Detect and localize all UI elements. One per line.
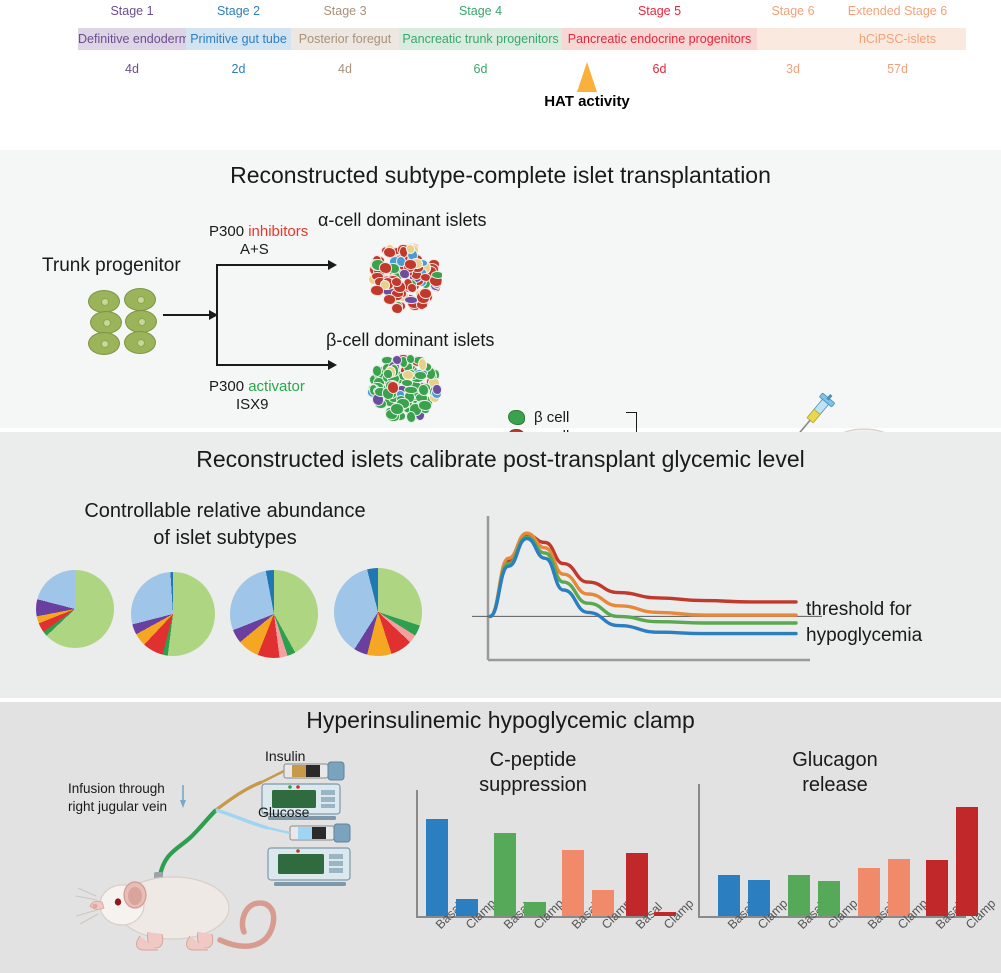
glycemic-line-chart	[470, 512, 830, 672]
bottom-branch-label: P300 activator	[209, 378, 305, 395]
arrow-top-branch	[216, 264, 330, 266]
stage-duration-4: 6d	[399, 62, 562, 76]
transplantation-panel: Reconstructed subtype-complete islet tra…	[0, 150, 1001, 428]
clamp-title: Hyperinsulinemic hypoglycemic clamp	[0, 707, 1001, 734]
stage-bar-row: Definitive endodermPrimitive gut tubePos…	[78, 28, 966, 50]
stage-duration-1: 4d	[78, 62, 186, 76]
bottom-branch-highlight: activator	[248, 378, 305, 395]
stage-chip-4: Pancreatic trunk progenitors	[399, 28, 562, 50]
islet-cell	[392, 355, 402, 365]
stage-chip-5: Pancreatic endocrine progenitors	[562, 28, 757, 50]
stage-duration-3: 4d	[291, 62, 399, 76]
islet-cell	[414, 371, 427, 380]
abundance-line1: Controllable relative abundance	[50, 498, 400, 525]
stage-chip-6	[757, 28, 829, 50]
transplantation-title: Reconstructed subtype-complete islet tra…	[0, 162, 1001, 189]
pie-chart-composition-2	[131, 572, 215, 656]
arrow-top-head-icon	[328, 260, 337, 270]
legend-swatch-icon	[508, 410, 525, 425]
glycemic-calibration-panel: Reconstructed islets calibrate post-tran…	[0, 432, 1001, 698]
stage-label-2: Stage 2	[186, 4, 291, 18]
c-peptide-bar-chart: C-peptidesuppressionBasalClampBasalClamp…	[408, 748, 658, 963]
stage-chip-7: hCiPSC-islets	[829, 28, 966, 50]
bar-chart-y-axis	[416, 790, 418, 916]
islet-cell	[406, 244, 415, 253]
legend-label: β cell	[534, 409, 569, 426]
alpha-dominant-islet-image	[366, 238, 442, 314]
bar-clamp-7	[956, 807, 978, 916]
glucose-pump-icon	[268, 824, 350, 886]
pie-chart-composition-4	[334, 568, 422, 656]
bar-chart-title-line2: release	[690, 773, 980, 798]
pie-chart-composition-3	[230, 570, 318, 658]
islet-cell	[372, 365, 382, 377]
stage-label-3: Stage 3	[291, 4, 399, 18]
glucose-pump-label: Glucose	[258, 804, 309, 820]
bar-clamp-5	[888, 859, 910, 916]
stage-duration-6: 3d	[757, 62, 829, 76]
glucagon-bar-chart: GlucagonreleaseBasalClampBasalClampBasal…	[690, 748, 980, 963]
stage-chip-1: Definitive endoderm	[78, 28, 186, 50]
islet-cell	[432, 384, 442, 395]
calibration-title: Reconstructed islets calibrate post-tran…	[0, 446, 1001, 473]
stage-label-5: Stage 5	[562, 4, 757, 18]
alpha-islet-title: α-cell dominant islets	[318, 210, 486, 231]
stage-label-1: Stage 1	[78, 4, 186, 18]
islet-cell	[418, 358, 427, 370]
clamp-setup-illustration	[40, 740, 370, 970]
bar-basal-0	[426, 819, 448, 916]
arrow-bottom-branch	[216, 364, 330, 366]
arrow-split-vertical	[216, 264, 218, 366]
mouse-side-illustration	[76, 877, 274, 950]
hat-activity-label: HAT activity	[507, 93, 667, 110]
arrow-stem	[163, 314, 211, 316]
stage-label-7: Extended Stage 6	[829, 4, 966, 18]
stage-duration-2: 2d	[186, 62, 291, 76]
islet-cell	[431, 271, 442, 279]
islet-cell	[370, 285, 383, 297]
stage-duration-row: 4d2d4d6d6d3d57d	[78, 62, 966, 76]
trunk-progenitor-label: Trunk progenitor	[42, 255, 181, 277]
top-branch-sublabel: A+S	[240, 241, 269, 258]
bar-basal-6	[626, 853, 648, 916]
bar-chart-title: C-peptidesuppression	[408, 748, 658, 798]
pie-chart-composition-1	[36, 570, 114, 648]
bar-chart-title-line2: suppression	[408, 773, 658, 798]
islet-cell	[402, 370, 414, 380]
differentiation-timeline-panel: Stage 1Stage 2Stage 3Stage 4Stage 5Stage…	[0, 0, 1001, 148]
bar-basal-2	[494, 833, 516, 916]
islet-cell	[399, 269, 410, 279]
bottom-branch-sublabel: ISX9	[236, 396, 269, 413]
bar-chart-title-line1: C-peptide	[408, 748, 658, 773]
islet-cell	[407, 283, 417, 293]
islet-cell	[404, 259, 416, 269]
islet-cell	[387, 381, 399, 394]
islet-cell	[406, 411, 416, 424]
abundance-label: Controllable relative abundance of islet…	[50, 498, 400, 552]
islet-cell	[390, 403, 404, 415]
top-branch-highlight: inhibitors	[248, 223, 308, 240]
bottom-branch-prefix: P300	[209, 378, 248, 395]
stage-label-4: Stage 4	[399, 4, 562, 18]
legend-row-0: β cell	[508, 408, 618, 427]
bar-basal-4	[562, 850, 584, 916]
islet-cell	[383, 369, 392, 380]
islet-cell	[383, 247, 396, 258]
top-branch-prefix: P300	[209, 223, 248, 240]
islet-cell	[404, 296, 418, 304]
top-branch-label: P300 inhibitors	[209, 223, 308, 240]
hypoglycemia-threshold-label: threshold for hypoglycemia	[806, 597, 922, 649]
abundance-line2: of islet subtypes	[50, 525, 400, 552]
stage-chip-3: Posterior foregut	[291, 28, 399, 50]
bar-chart-title: Glucagonrelease	[690, 748, 980, 798]
islet-cell	[406, 354, 415, 363]
threshold-line2: hypoglycemia	[806, 623, 922, 649]
threshold-line1: threshold for	[806, 597, 922, 623]
islet-cell	[391, 277, 403, 287]
bar-chart-title-line1: Glucagon	[690, 748, 980, 773]
stage-duration-7: 57d	[829, 62, 966, 76]
trunk-progenitor-cells-icon	[88, 290, 158, 352]
arrow-bottom-head-icon	[328, 360, 337, 370]
stage-label-row: Stage 1Stage 2Stage 3Stage 4Stage 5Stage…	[78, 4, 966, 18]
islet-cell	[418, 384, 429, 396]
beta-dominant-islet-image	[366, 348, 442, 424]
bar-basal-6	[926, 860, 948, 916]
bar-chart-y-axis	[698, 784, 700, 916]
stage-chip-2: Primitive gut tube	[186, 28, 291, 50]
hat-activity-marker-icon	[577, 62, 597, 92]
islet-cell	[418, 400, 431, 410]
islet-cell	[379, 262, 392, 273]
insulin-pump-label: Insulin	[265, 748, 305, 764]
stage-label-6: Stage 6	[757, 4, 829, 18]
